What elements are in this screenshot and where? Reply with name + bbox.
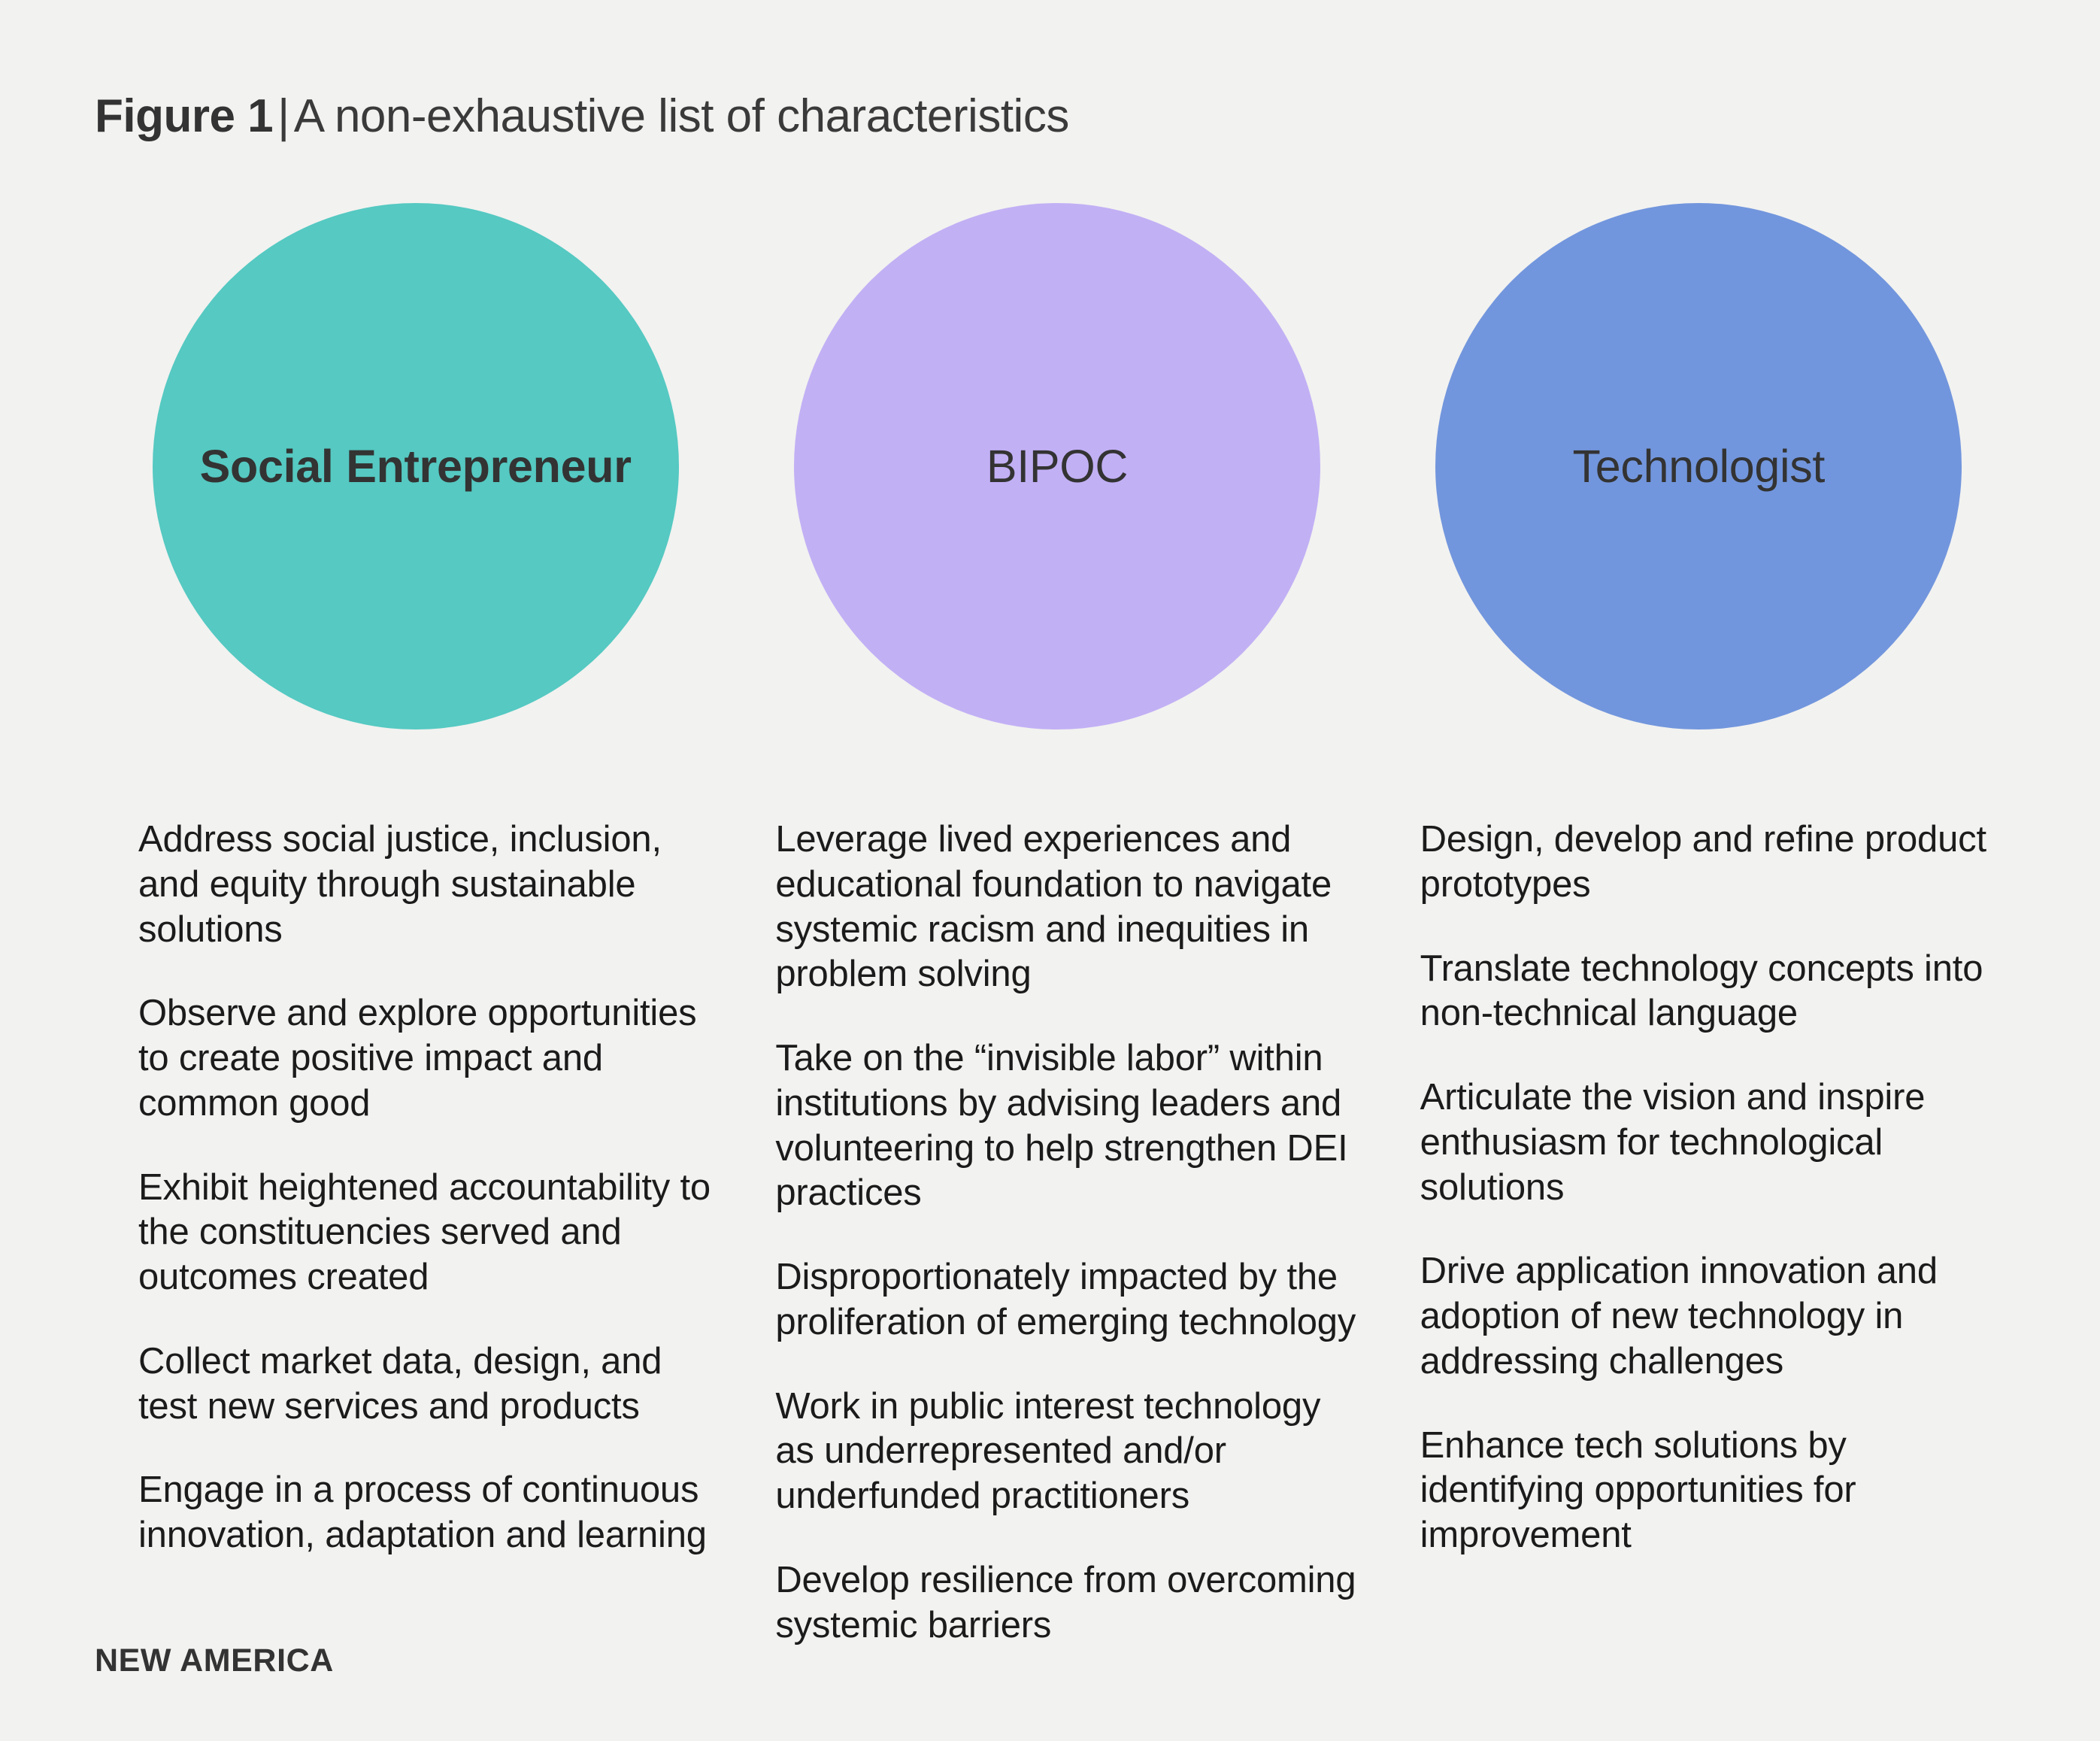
circle-technologist: Technologist bbox=[1435, 203, 1962, 729]
list-item: Articulate the vision and inspire enthus… bbox=[1420, 1075, 2009, 1210]
list-item: Develop resilience from overcoming syste… bbox=[775, 1558, 1367, 1648]
list-item: Work in public interest technology as un… bbox=[775, 1385, 1367, 1519]
circle-label-technologist: Technologist bbox=[1573, 440, 1826, 493]
item-list-bipoc: Leverage lived experiences and education… bbox=[736, 781, 1377, 1648]
circle-bipoc: BIPOC bbox=[794, 203, 1320, 729]
new-america-logo: NEW AMERICA bbox=[95, 1642, 334, 1679]
list-item: Take on the “invisible labor” within ins… bbox=[775, 1036, 1367, 1216]
circle-label-social-entrepreneur: Social Entrepreneur bbox=[200, 440, 632, 493]
list-item: Collect market data, design, and test ne… bbox=[138, 1339, 726, 1430]
characteristics-columns: Social Entrepreneur Address social justi… bbox=[95, 203, 2020, 1648]
list-item: Observe and explore opportunities to cre… bbox=[138, 991, 726, 1126]
figure-subtitle: A non-exhaustive list of characteristics bbox=[294, 90, 1069, 142]
column-bipoc: BIPOC Leverage lived experiences and edu… bbox=[736, 203, 1377, 1648]
list-item: Design, develop and refine product proto… bbox=[1420, 817, 2009, 908]
figure-title: Figure 1|A non-exhaustive list of charac… bbox=[95, 92, 1069, 141]
title-divider: | bbox=[273, 90, 294, 142]
list-item: Disproportionately impacted by the proli… bbox=[775, 1255, 1367, 1345]
list-item: Exhibit heightened accountability to the… bbox=[138, 1166, 726, 1300]
list-item: Enhance tech solutions by identifying op… bbox=[1420, 1424, 2009, 1558]
list-item: Engage in a process of continuous innova… bbox=[138, 1468, 726, 1558]
figure-container: Figure 1|A non-exhaustive list of charac… bbox=[0, 0, 2100, 1741]
column-social-entrepreneur: Social Entrepreneur Address social justi… bbox=[95, 203, 736, 1558]
figure-number: Figure 1 bbox=[95, 90, 273, 142]
list-item: Translate technology concepts into non-t… bbox=[1420, 947, 2009, 1037]
list-item: Drive application innovation and adoptio… bbox=[1420, 1249, 2009, 1384]
circle-social-entrepreneur: Social Entrepreneur bbox=[153, 203, 679, 729]
list-item: Address social justice, inclusion, and e… bbox=[138, 817, 726, 952]
circle-label-bipoc: BIPOC bbox=[986, 440, 1128, 493]
list-item: Leverage lived experiences and education… bbox=[775, 817, 1367, 997]
item-list-social-entrepreneur: Address social justice, inclusion, and e… bbox=[95, 781, 736, 1558]
column-technologist: Technologist Design, develop and refine … bbox=[1378, 203, 2020, 1558]
item-list-technologist: Design, develop and refine product proto… bbox=[1378, 781, 2020, 1558]
